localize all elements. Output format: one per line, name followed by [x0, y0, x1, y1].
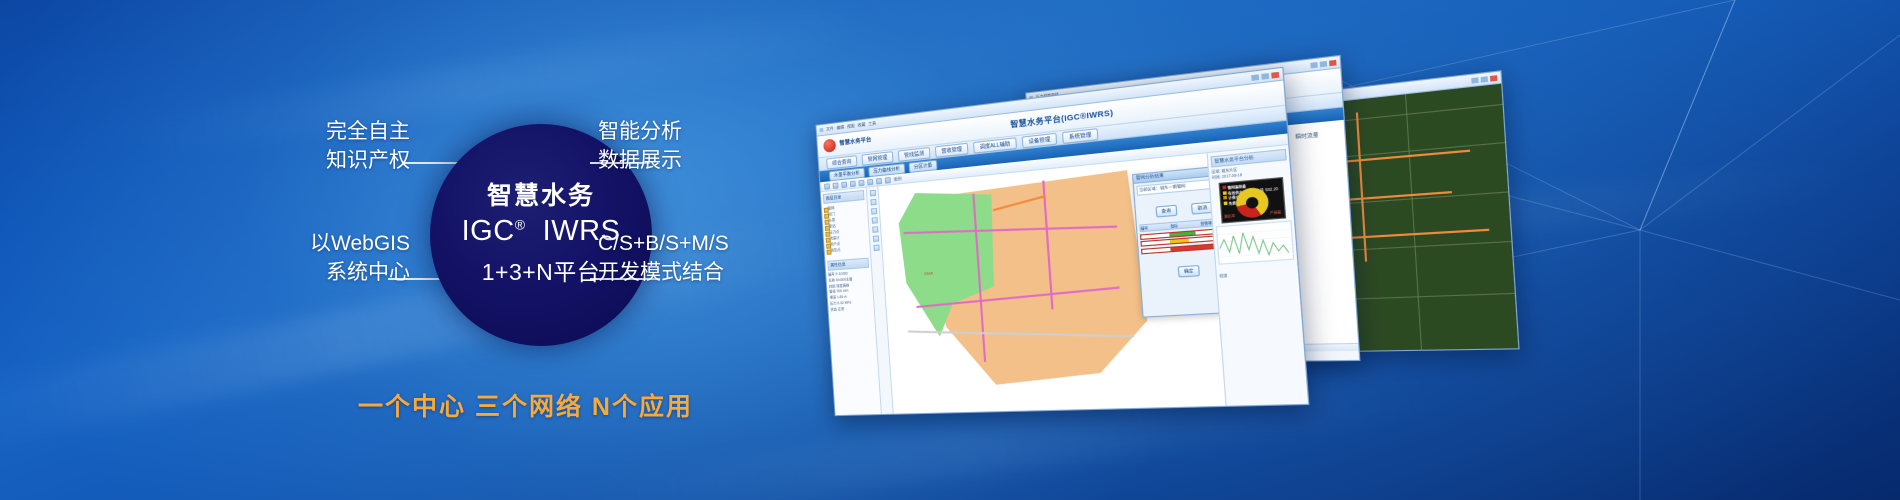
feature-label-top-right: 智能分析 数据展示	[598, 118, 682, 176]
donut-sub-right: 产销差	[1270, 210, 1282, 216]
close-icon	[1329, 59, 1336, 65]
print-icon[interactable]	[841, 181, 847, 188]
cancel-button[interactable]: 取消	[1191, 202, 1214, 215]
open-icon[interactable]	[824, 183, 830, 190]
save-icon[interactable]	[833, 182, 839, 189]
banner-stage: 完全自主 知识产权 以WebGIS 系统中心 智慧水务 IGC® IWRS 1+…	[0, 0, 1900, 500]
measure-icon[interactable]	[885, 176, 891, 183]
feature-diagram: 完全自主 知识产权 以WebGIS 系统中心 智慧水务 IGC® IWRS 1+…	[300, 100, 820, 400]
product-name: IGC	[462, 215, 515, 247]
feature-line-1: C/S+B/S+M/S	[598, 230, 729, 259]
sparkline-chart	[1216, 221, 1295, 265]
minimize-icon	[1310, 61, 1317, 67]
window-controls[interactable]	[1310, 59, 1336, 68]
pan-icon[interactable]	[867, 178, 873, 185]
donut-chart: 管网漏损量 有效供水量 计费水量 免费水量 供水量 532.20 漏损率 产销差	[1218, 177, 1286, 224]
property-panel-header: 属性信息	[827, 258, 869, 271]
minimize-icon	[1471, 77, 1478, 83]
donut-sub-left: 漏损率	[1224, 214, 1235, 219]
menu-item[interactable]: 工具	[868, 120, 876, 127]
feature-line-1: 智能分析	[598, 118, 682, 147]
menu-item[interactable]: 视图	[847, 123, 855, 130]
close-icon	[1490, 75, 1497, 81]
map-annotation: DMA	[924, 270, 933, 276]
feature-line-2: 系统中心	[310, 259, 410, 288]
measure-icon[interactable]	[872, 226, 878, 233]
series-label: 瞬时流量	[1295, 131, 1319, 141]
feature-line-2: 开发模式结合	[598, 259, 729, 288]
close-icon	[1271, 71, 1279, 78]
zoom-out-icon[interactable]	[858, 179, 864, 186]
app-window-gis[interactable]: 文件 编辑 视图 收藏 工具 智慧水务平台 智慧水务平台(IGC®IWRS) 综…	[815, 67, 1309, 416]
minimize-icon	[1251, 74, 1259, 81]
maximize-icon	[1261, 73, 1269, 80]
identify-icon[interactable]	[871, 217, 877, 224]
brand-label: 智慧水务平台	[839, 137, 871, 148]
print-icon[interactable]	[872, 235, 878, 242]
pan-icon[interactable]	[871, 208, 877, 215]
company-logo-icon	[823, 138, 836, 152]
table-header: 编号	[1140, 223, 1170, 231]
registered-mark-icon: ®	[515, 217, 526, 233]
feature-label-bottom-right: C/S+B/S+M/S 开发模式结合	[598, 230, 729, 288]
brand-line-1: 智慧水务平台	[839, 137, 871, 147]
tagline: 一个中心 三个网络 N个应用	[358, 387, 693, 423]
select-icon[interactable]	[876, 177, 882, 184]
maximize-icon	[1481, 76, 1488, 82]
menu-item[interactable]: 编辑	[836, 124, 844, 131]
legend-label: 图例	[894, 175, 902, 182]
query-button[interactable]: 查询	[1155, 205, 1177, 218]
feature-line-1: 以WebGIS	[310, 230, 410, 259]
confirm-button[interactable]: 确定	[1178, 264, 1200, 277]
feature-line-2: 数据展示	[598, 147, 682, 176]
window-controls[interactable]	[1471, 75, 1497, 83]
feature-line-1: 完全自主	[326, 118, 410, 147]
table-header: 指标	[1170, 221, 1201, 229]
gis-map-canvas[interactable]: DMA 管网分析结果 当前区域：城东一期管网 查询 取消 编号	[878, 153, 1225, 416]
zoom-in-icon[interactable]	[869, 190, 875, 197]
product-platform: 1+3+N平台	[482, 253, 601, 287]
zoom-out-icon[interactable]	[870, 199, 876, 206]
app-icon	[819, 128, 823, 132]
window-controls[interactable]	[1251, 71, 1279, 80]
feature-line-2: 知识产权	[326, 147, 410, 176]
zoom-in-icon[interactable]	[850, 180, 856, 187]
window-body: 图层目录 管网 阀门 水表 泵站 压力点 流量计 用户点 测压点 属性信息 编号…	[821, 145, 1309, 416]
maximize-icon	[1320, 60, 1327, 66]
product-cn-title: 智慧水务	[487, 183, 595, 211]
feature-label-top-left: 完全自主 知识产权	[326, 118, 410, 176]
menu-item[interactable]: 文件	[826, 126, 834, 133]
app-screenshot-stack: 遥感影像底图	[795, 40, 1495, 460]
product-name-row: IGC® IWRS	[462, 216, 621, 248]
layers-icon[interactable]	[873, 245, 879, 252]
menu-item[interactable]: 收藏	[857, 122, 865, 129]
status-text: 就绪	[1219, 268, 1295, 279]
